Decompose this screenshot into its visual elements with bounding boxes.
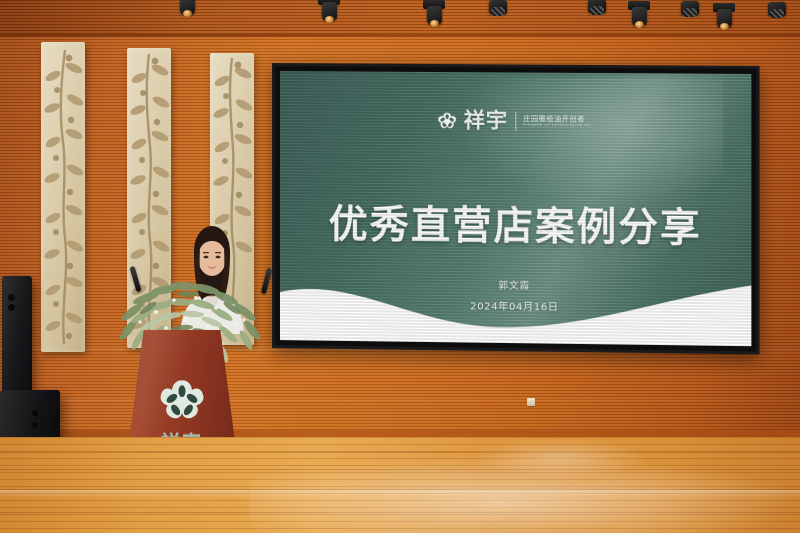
light-lens — [183, 10, 192, 17]
light-lens — [683, 8, 697, 17]
light-lens — [770, 9, 784, 18]
screen-glare — [448, 78, 722, 210]
flower-blossom-icon — [438, 111, 457, 130]
conference-hall-scene: 祥宇 庄园橄榄油开创者 PIONEER OF ESTATE OLIVE OIL … — [0, 0, 800, 533]
stage-step-edge — [0, 490, 800, 498]
brand-tagline-cn: 庄园橄榄油开创者 — [523, 116, 591, 124]
brand-tagline-group: 庄园橄榄油开创者 PIONEER OF ESTATE OLIVE OIL — [523, 116, 591, 128]
line-array-speaker — [2, 276, 32, 402]
light-lens — [430, 20, 439, 27]
floor-plank-seam — [0, 469, 800, 470]
light-lens — [635, 21, 644, 28]
brand-divider — [515, 112, 516, 131]
light-lens — [491, 7, 505, 16]
slide-title: 优秀直营店案例分享 — [280, 193, 751, 254]
slide-brand-lockup: 祥宇 庄园橄榄油开创者 PIONEER OF ESTATE OLIVE OIL — [280, 109, 751, 134]
led-display-screen[interactable]: 祥宇 庄园橄榄油开创者 PIONEER OF ESTATE OLIVE OIL … — [272, 63, 760, 354]
olive-branch-carving — [41, 42, 85, 352]
wall-baseboard — [0, 430, 800, 437]
wall-switch-plate[interactable] — [527, 398, 535, 406]
wall-seam-lower — [0, 399, 800, 401]
floor-plank-seam — [0, 452, 800, 453]
presentation-slide: 祥宇 庄园橄榄油开创者 PIONEER OF ESTATE OLIVE OIL … — [280, 71, 751, 346]
light-lens — [590, 6, 604, 15]
carved-panel-left — [41, 42, 85, 352]
ceiling-edge — [0, 34, 800, 37]
slide-wave-decoration — [280, 262, 751, 346]
light-lens — [325, 16, 334, 23]
floor-plank-seam — [0, 512, 800, 513]
slide-brand-name: 祥宇 — [464, 110, 508, 131]
light-lens — [720, 23, 729, 30]
brand-tagline-en: PIONEER OF ESTATE OLIVE OIL — [523, 124, 591, 128]
ceiling-panel — [0, 0, 800, 36]
podium-flower-blossom-icon — [160, 378, 204, 422]
